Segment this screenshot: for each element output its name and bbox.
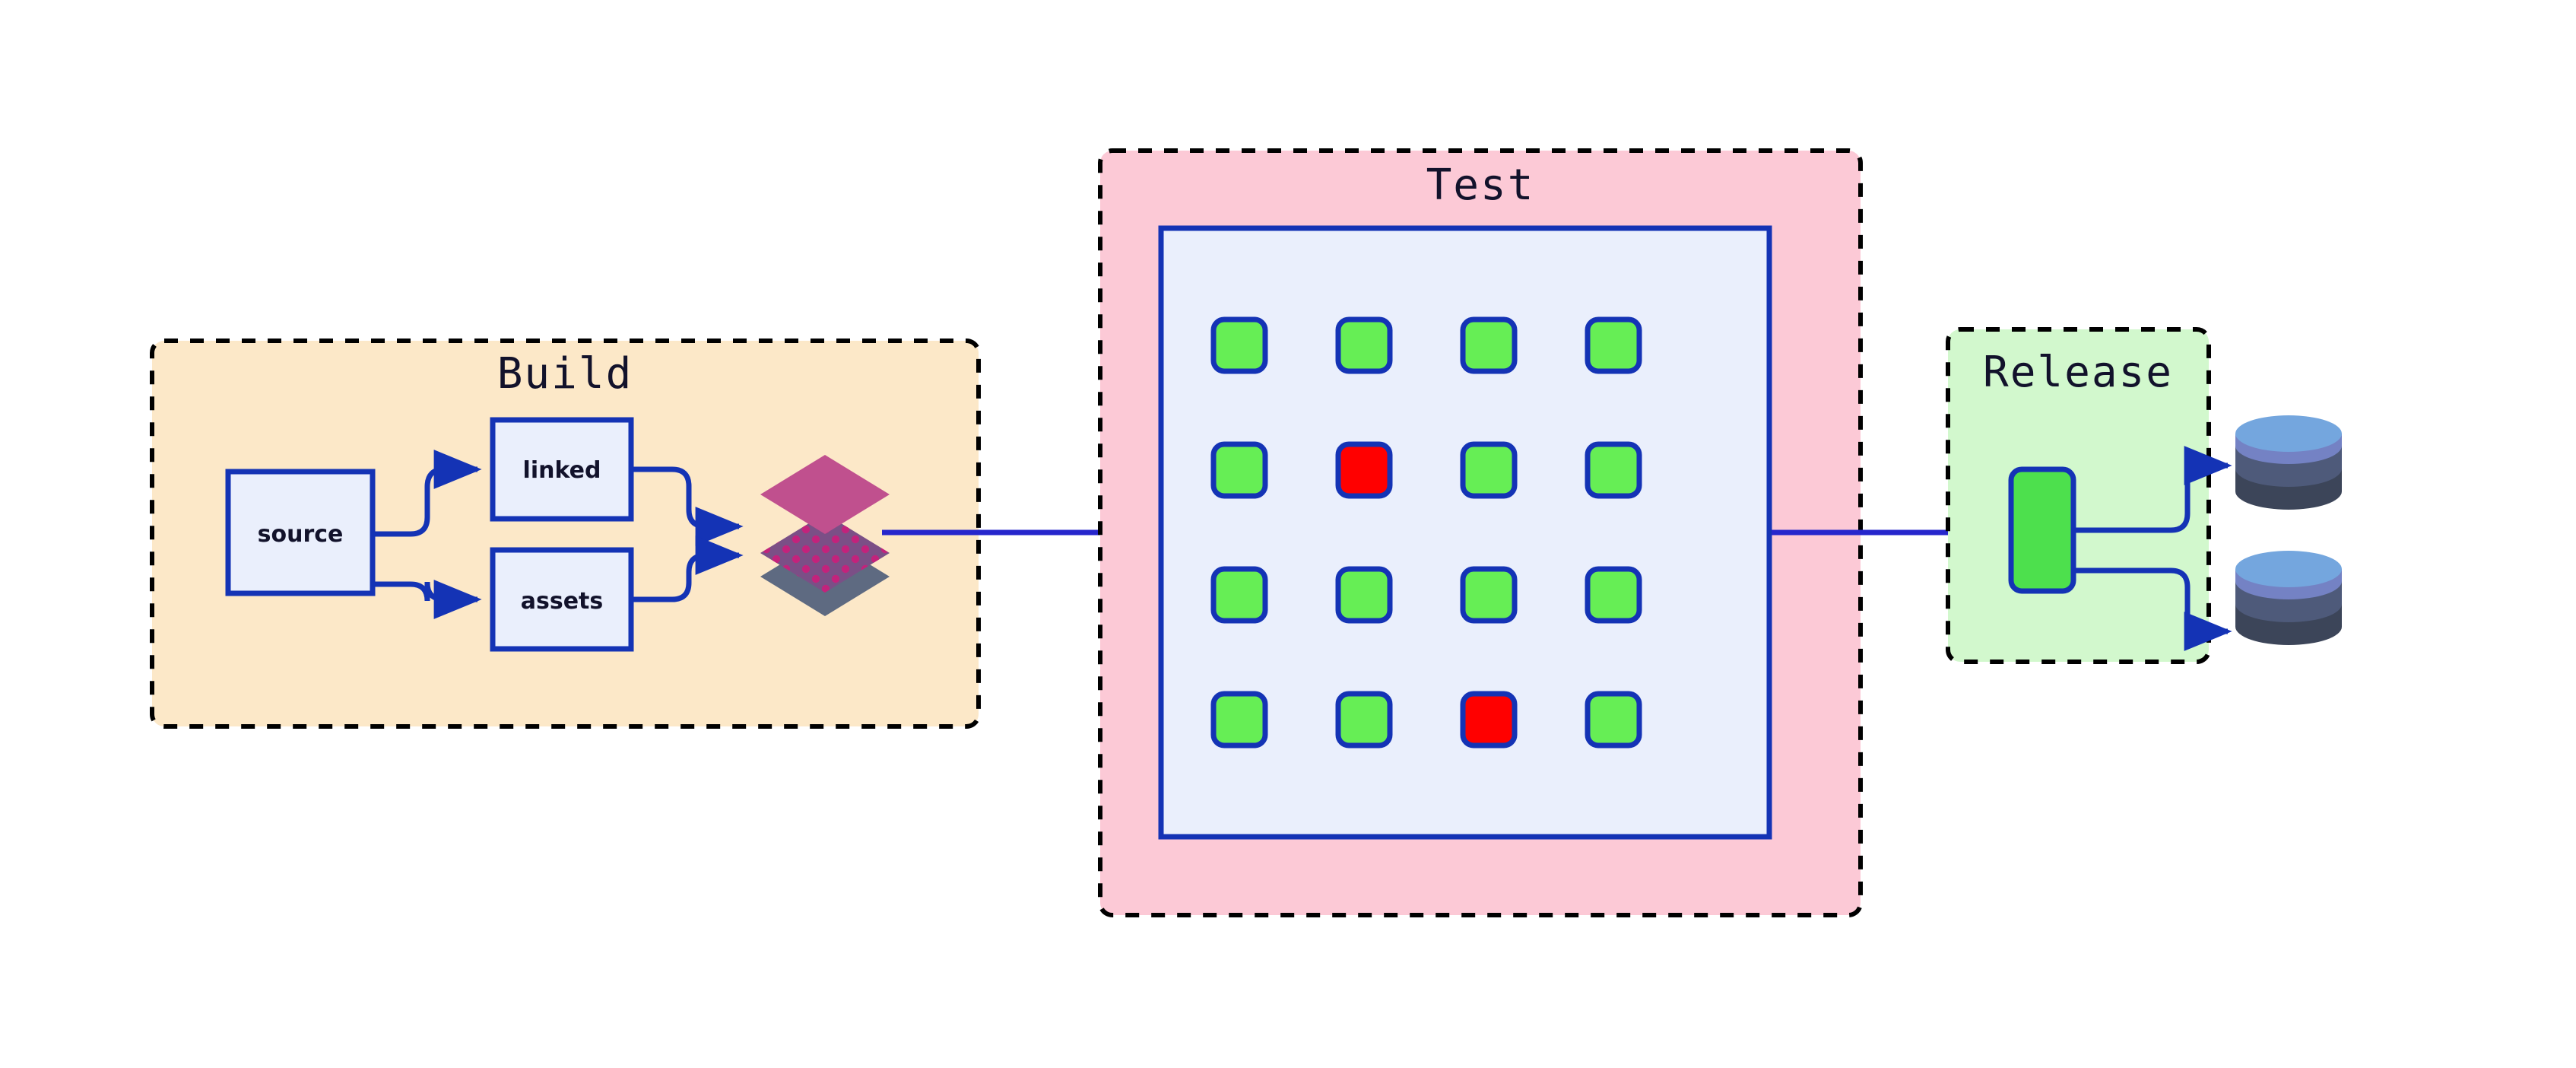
- test-cell[interactable]: [1338, 694, 1390, 745]
- test-cell[interactable]: [1213, 569, 1265, 621]
- group-build[interactable]: Build source linked assets: [152, 341, 979, 726]
- test-cell[interactable]: [1588, 444, 1639, 496]
- test-cell[interactable]: [1213, 694, 1265, 745]
- group-release-title: Release: [1983, 348, 2173, 397]
- node-deploy-box: [2011, 469, 2073, 591]
- test-cell[interactable]: [1463, 569, 1515, 621]
- test-cell[interactable]: [1463, 444, 1515, 496]
- node-linked-label: linked: [523, 457, 601, 484]
- group-test[interactable]: Test: [1100, 151, 1861, 915]
- group-test-title: Test: [1426, 161, 1535, 210]
- group-build-title: Build: [497, 349, 633, 399]
- test-cell[interactable]: [1463, 319, 1515, 371]
- database-icon[interactable]: [2235, 415, 2342, 510]
- test-cell[interactable]: [1588, 319, 1639, 371]
- node-assets-label: assets: [521, 588, 604, 615]
- test-cell[interactable]: [1588, 694, 1639, 745]
- node-source[interactable]: source: [228, 472, 373, 593]
- test-cell[interactable]: [1338, 569, 1390, 621]
- node-source-label: source: [258, 521, 344, 548]
- database-icon[interactable]: [2235, 551, 2342, 645]
- test-cell[interactable]: [1588, 569, 1639, 621]
- pipeline-diagram: Build source linked assets: [0, 0, 2576, 1068]
- test-cell[interactable]: [1213, 319, 1265, 371]
- diagram-canvas: Build source linked assets: [0, 0, 2576, 1068]
- test-cell-failed[interactable]: [1463, 694, 1515, 745]
- node-assets[interactable]: assets: [493, 550, 631, 649]
- test-cell[interactable]: [1213, 444, 1265, 496]
- db-replica-top: [2235, 551, 2342, 587]
- test-cell-failed[interactable]: [1338, 444, 1390, 496]
- node-deploy[interactable]: [2011, 469, 2073, 591]
- test-cell[interactable]: [1338, 319, 1390, 371]
- db-primary-top: [2235, 415, 2342, 452]
- node-linked[interactable]: linked: [493, 420, 631, 519]
- group-release[interactable]: Release: [1948, 329, 2342, 662]
